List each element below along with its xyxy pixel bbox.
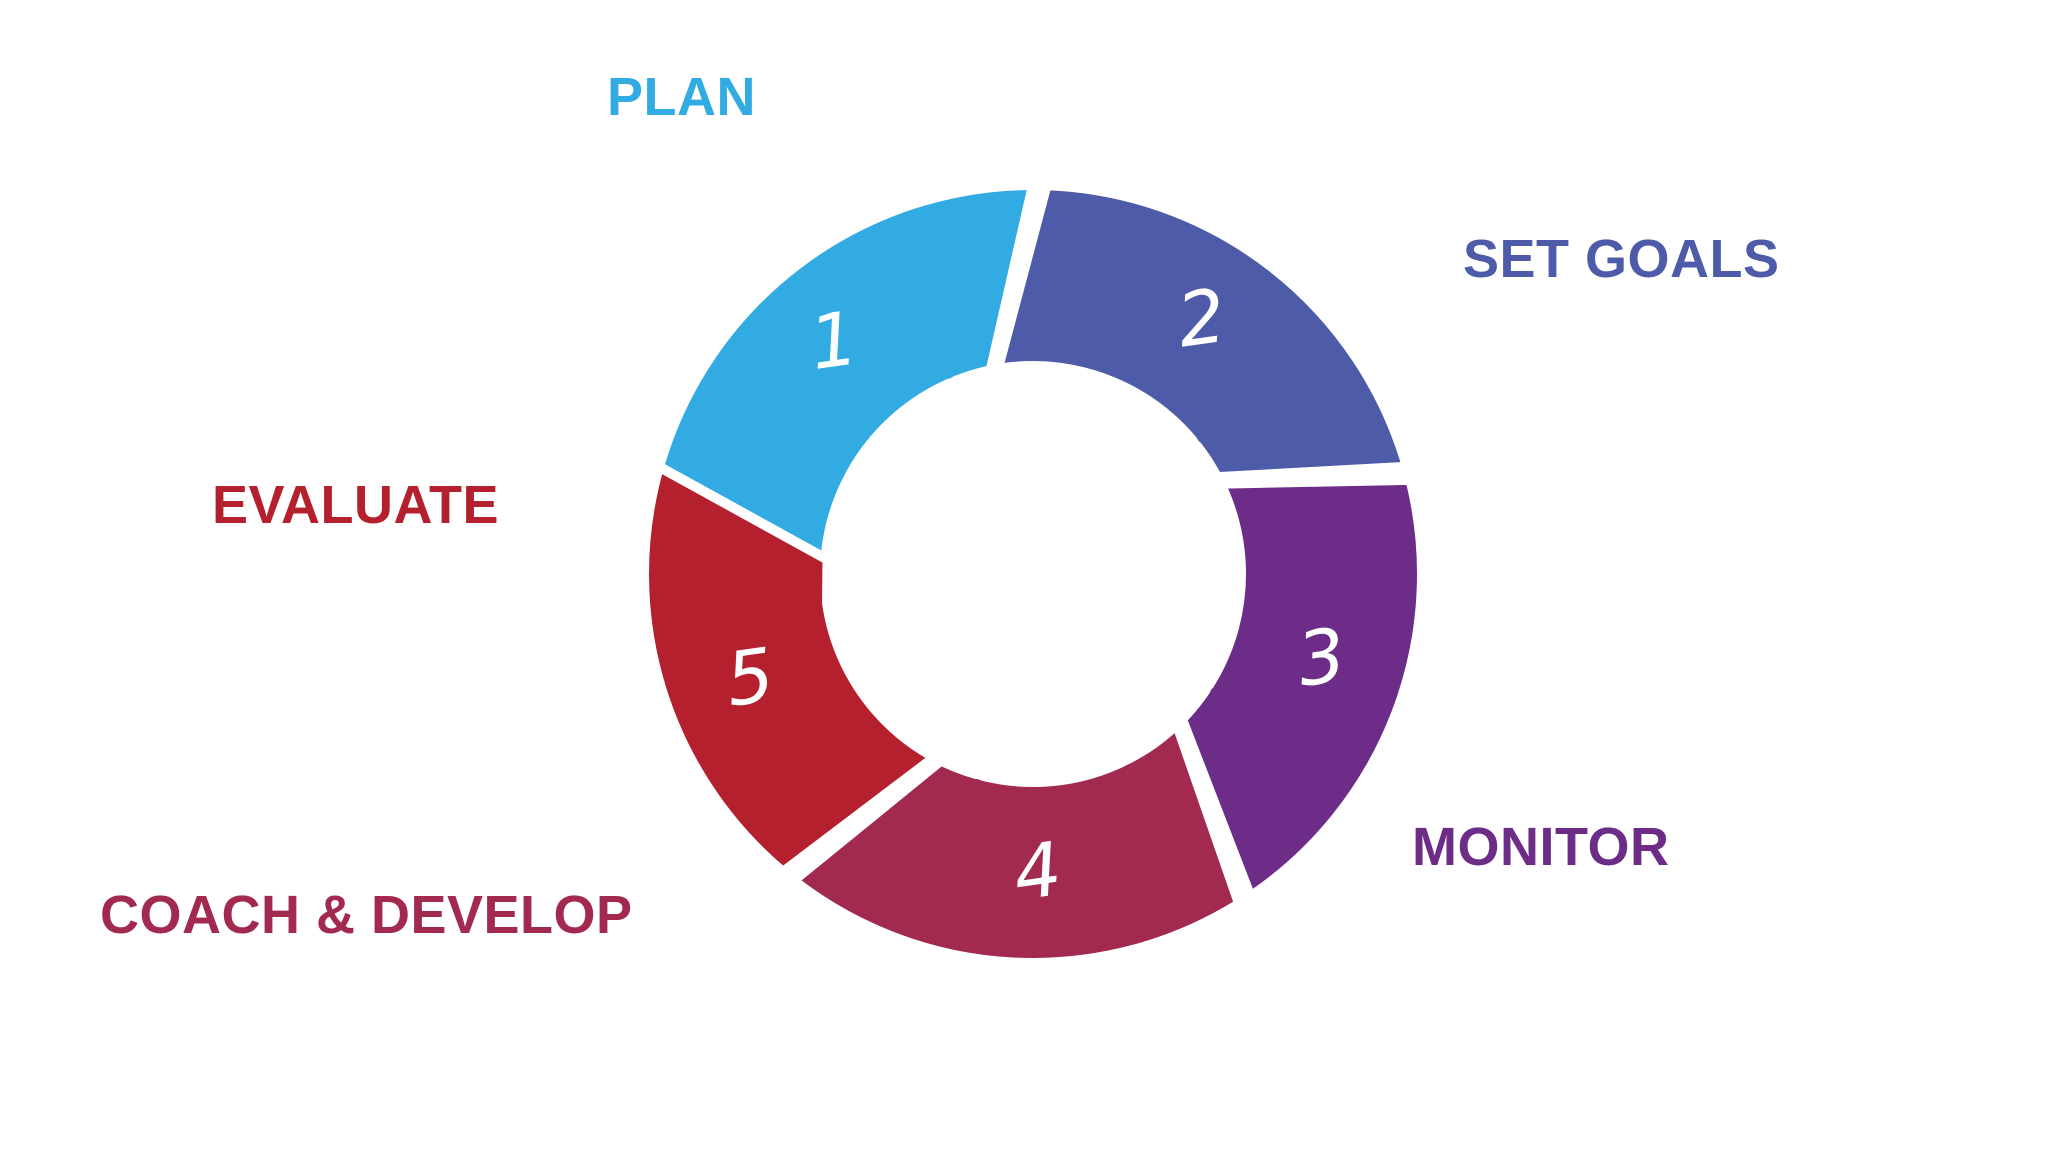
cycle-diagram-svg: 12345 xyxy=(0,0,2048,1154)
stage-label-set-goals: SET GOALS xyxy=(1463,232,1780,286)
stage-label-coach-and-develop: COACH & DEVELOP xyxy=(100,888,633,942)
stage-label-monitor: MONITOR xyxy=(1412,820,1670,874)
stage-label-evaluate: EVALUATE xyxy=(212,478,499,532)
stage-label-plan: PLAN xyxy=(607,70,756,124)
cycle-center-hole xyxy=(831,372,1235,776)
diagram-canvas: 12345 PLAN SET GOALS MONITOR COACH & DEV… xyxy=(0,0,2048,1154)
